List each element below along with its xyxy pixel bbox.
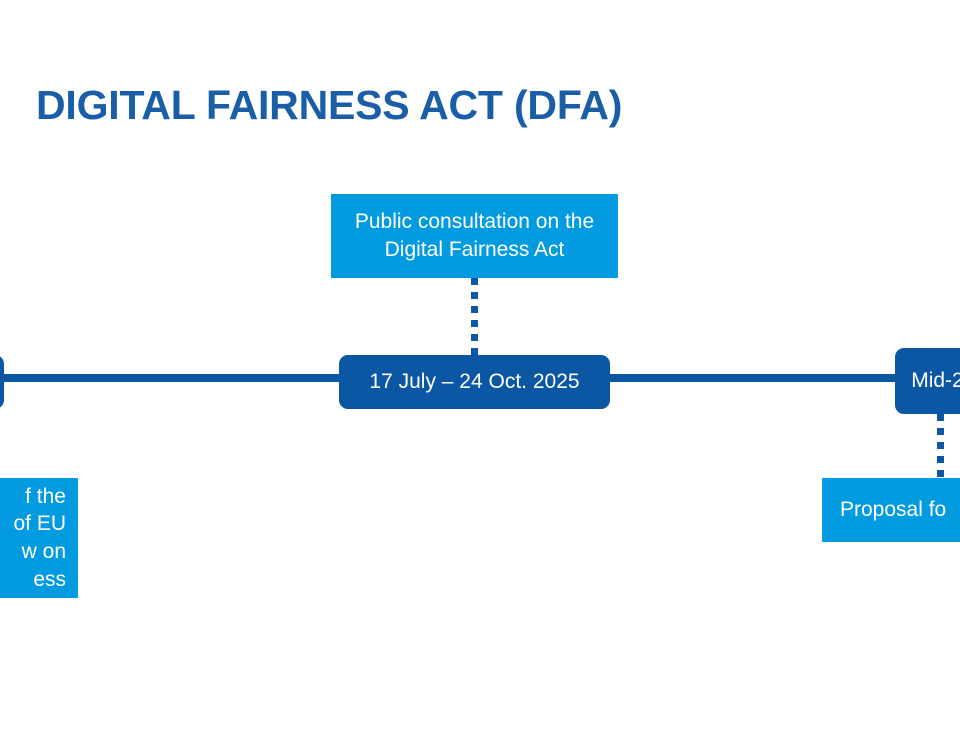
connector-dotted-right <box>937 414 944 479</box>
timeline-caption-left: f the of EU w on ess <box>0 478 78 598</box>
page-title: DIGITAL FAIRNESS ACT (DFA) <box>36 82 622 129</box>
timeline-milestone-pill-consultation: 17 July – 24 Oct. 2025 <box>339 355 610 409</box>
caption-left-text: f the of EU w on ess <box>13 483 66 594</box>
timeline-caption-proposal: Proposal fo <box>822 478 960 542</box>
timeline-caption-consultation: Public consultation on the Digital Fairn… <box>331 194 618 278</box>
slide-canvas: DIGITAL FAIRNESS ACT (DFA) f the of EU w… <box>0 0 960 750</box>
timeline-milestone-pill-proposal: Mid-2026 <box>895 348 960 414</box>
connector-dotted-top <box>471 278 478 356</box>
timeline-milestone-pill-left <box>0 355 4 409</box>
